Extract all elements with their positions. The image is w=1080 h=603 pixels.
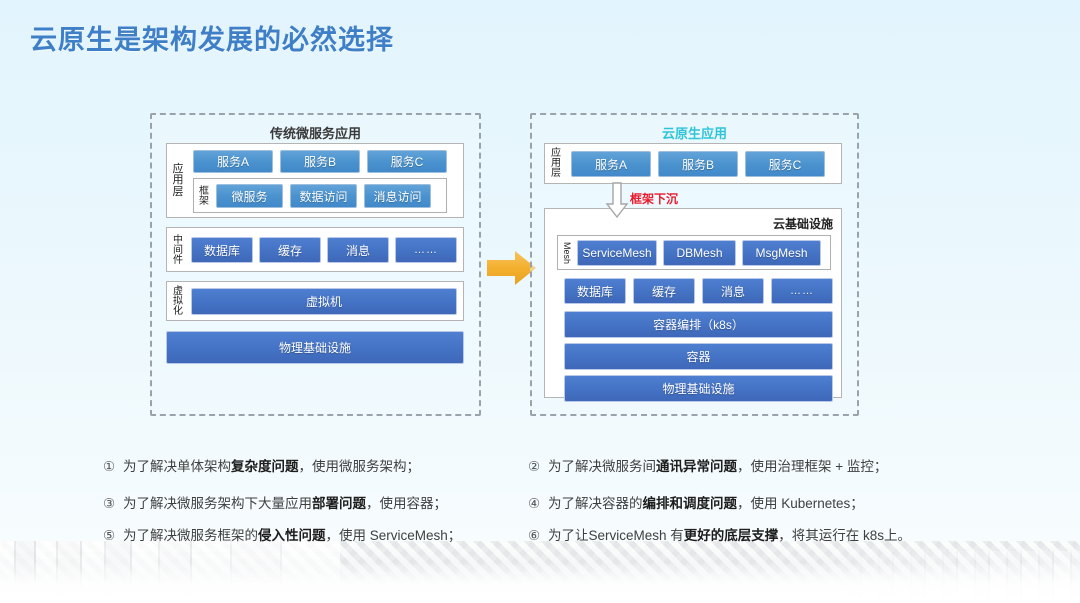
bullet-text-pre-3: 为了解决微服务架构下大量应用: [123, 496, 312, 511]
service-b-tile[interactable]: 服务B: [280, 150, 360, 173]
middleware-group: 中 间 件 数据库 缓存 消息 ……: [166, 227, 464, 272]
framework-message-access-tile[interactable]: 消息访问: [364, 184, 431, 208]
container-tile[interactable]: 容器: [564, 343, 833, 370]
bullet-text-post-5: ，使用 ServiceMesh；: [326, 528, 462, 543]
virtual-machine-tile[interactable]: 虚拟机: [191, 288, 457, 315]
cloud-middleware-more-tile[interactable]: ……: [771, 278, 833, 304]
application-layer-group: 应 用 层 服务A 服务B 服务C 框 架 微服务 数据访问 消息访问: [166, 143, 464, 218]
virtualization-label: 虚 拟 化: [170, 284, 186, 320]
bullet-text-strong-1: 复杂度问题: [231, 459, 299, 474]
bullet-text-strong-3: 部署问题: [312, 496, 366, 511]
bullet-text-pre-1: 为了解决单体架构: [123, 459, 231, 474]
framework-data-access-tile[interactable]: 数据访问: [290, 184, 357, 208]
bullet-item-6: ⑥为了让ServiceMesh 有更好的底层支撑，将其运行在 k8s上。: [528, 529, 911, 543]
cloud-application-layer-group: 应 用 层 服务A 服务B 服务C: [544, 143, 842, 184]
bullet-item-5: ⑤为了解决微服务框架的侵入性问题，使用 ServiceMesh；: [103, 529, 461, 543]
middleware-cache-tile[interactable]: 缓存: [259, 237, 321, 263]
cloud-service-c-tile[interactable]: 服务C: [745, 151, 825, 177]
traditional-microservice-panel: 传统微服务应用 应 用 层 服务A 服务B 服务C 框 架 微服务 数据访问 消…: [150, 113, 481, 416]
service-a-tile[interactable]: 服务A: [193, 150, 273, 173]
bullet-text-strong-2: 通讯异常问题: [656, 459, 737, 474]
bullet-text-post-3: ，使用容器；: [366, 496, 447, 511]
middleware-message-tile[interactable]: 消息: [327, 237, 389, 263]
bullet-item-1: ①为了解决单体架构复杂度问题，使用微服务架构；: [103, 460, 420, 474]
mesh-label: Mesh: [560, 239, 573, 268]
middleware-more-tile[interactable]: ……: [395, 237, 457, 263]
bullet-text-post-6: ，将其运行在 k8s上。: [778, 528, 911, 543]
bullet-text-strong-5: 侵入性问题: [258, 528, 326, 543]
middleware-database-tile[interactable]: 数据库: [191, 237, 253, 263]
cloud-infrastructure-label: 云基础设施: [773, 215, 833, 232]
decorative-3d-city-band: [0, 541, 1080, 603]
framework-group: 框 架 微服务 数据访问 消息访问: [193, 178, 447, 213]
bullet-text-post-1: ，使用微服务架构；: [299, 459, 421, 474]
bullet-text-post-4: ，使用 Kubernetes；: [737, 496, 864, 511]
bullet-number-3: ③: [103, 497, 123, 511]
db-mesh-tile[interactable]: DBMesh: [663, 240, 736, 266]
cloud-infrastructure-group: 云基础设施 Mesh ServiceMesh DBMesh MsgMesh 数据…: [544, 208, 842, 398]
bullet-text-pre-5: 为了解决微服务框架的: [123, 528, 258, 543]
panel-title-traditional: 传统微服务应用: [152, 123, 479, 142]
framework-microservice-tile[interactable]: 微服务: [216, 184, 283, 208]
bullet-number-4: ④: [528, 497, 548, 511]
bullet-item-2: ②为了解决微服务间通讯异常问题，使用治理框架 + 监控；: [528, 460, 887, 474]
cloud-service-a-tile[interactable]: 服务A: [571, 151, 651, 177]
bullet-item-3: ③为了解决微服务架构下大量应用部署问题，使用容器；: [103, 497, 447, 511]
bullet-number-6: ⑥: [528, 529, 548, 543]
bullet-number-1: ①: [103, 460, 123, 474]
service-c-tile[interactable]: 服务C: [367, 150, 447, 173]
bullet-item-4: ④为了解决容器的编排和调度问题，使用 Kubernetes；: [528, 497, 864, 511]
msg-mesh-tile[interactable]: MsgMesh: [742, 240, 821, 266]
bullet-text-strong-4: 编排和调度问题: [643, 496, 738, 511]
cloud-middleware-message-tile[interactable]: 消息: [702, 278, 764, 304]
bullet-text-strong-6: 更好的底层支撑: [684, 528, 779, 543]
cloud-middleware-cache-tile[interactable]: 缓存: [633, 278, 695, 304]
cloud-physical-infrastructure-tile[interactable]: 物理基础设施: [564, 375, 833, 402]
down-arrow-icon: [605, 182, 629, 219]
framework-label: 框 架: [197, 184, 211, 210]
mesh-group: Mesh ServiceMesh DBMesh MsgMesh: [557, 235, 831, 270]
cloud-middleware-database-tile[interactable]: 数据库: [564, 278, 626, 304]
cloud-service-b-tile[interactable]: 服务B: [658, 151, 738, 177]
application-layer-label: 应 用 层: [170, 152, 186, 210]
panel-title-cloud-native: 云原生应用: [532, 123, 857, 142]
bullet-text-pre-4: 为了解决容器的: [548, 496, 643, 511]
service-mesh-tile[interactable]: ServiceMesh: [577, 240, 657, 266]
framework-sink-label: 框架下沉: [630, 190, 678, 207]
deco-haze: [0, 563, 1080, 603]
bullet-text-post-2: ，使用治理框架 + 监控；: [737, 459, 887, 474]
bullet-text-pre-6: 为了让ServiceMesh 有: [548, 528, 684, 543]
middleware-label: 中 间 件: [170, 232, 186, 270]
cloud-application-layer-label: 应 用 层: [548, 147, 564, 181]
bullet-text-pre-2: 为了解决微服务间: [548, 459, 656, 474]
bullet-number-5: ⑤: [103, 529, 123, 543]
page-title: 云原生是架构发展的必然选择: [30, 18, 394, 57]
physical-infrastructure-tile[interactable]: 物理基础设施: [166, 331, 464, 364]
container-orchestration-tile[interactable]: 容器编排（k8s）: [564, 311, 833, 338]
cloud-native-panel: 云原生应用 应 用 层 服务A 服务B 服务C 云基础设施 Mesh Servi…: [530, 113, 859, 416]
bullet-number-2: ②: [528, 460, 548, 474]
virtualization-group: 虚 拟 化 虚拟机: [166, 281, 464, 321]
